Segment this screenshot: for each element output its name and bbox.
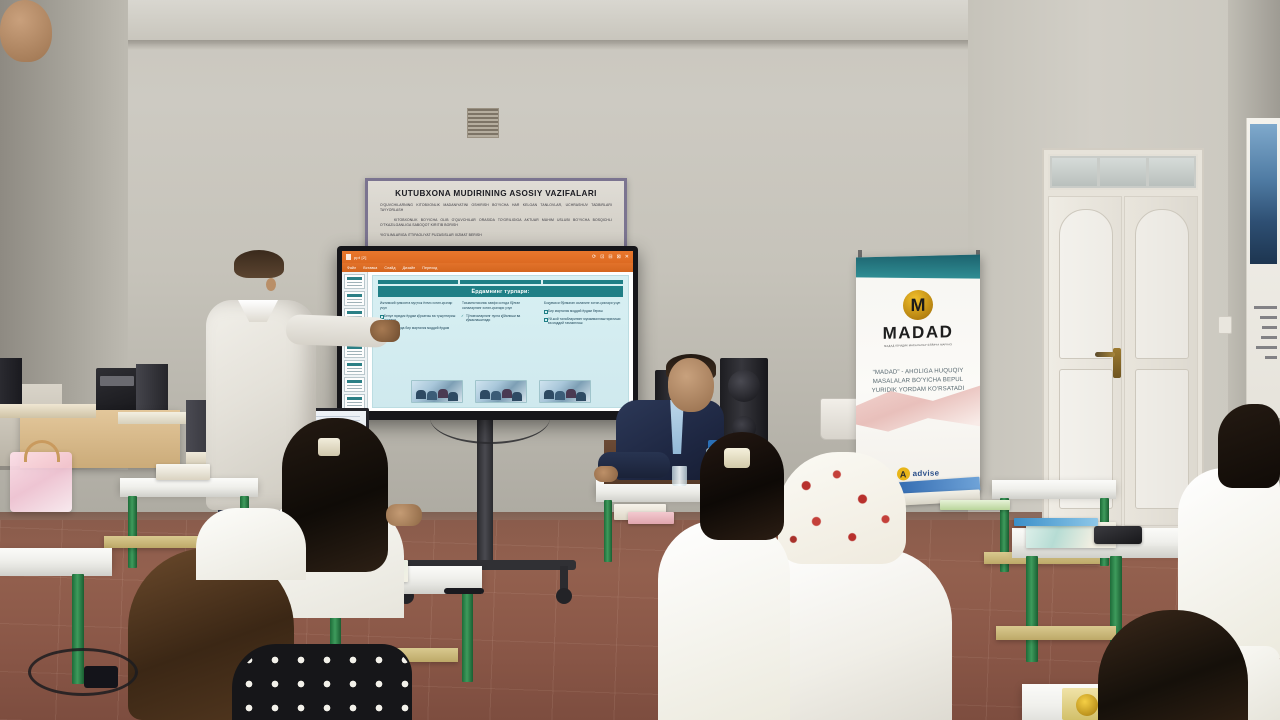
door-transom-window: [1048, 154, 1198, 190]
wall-poster-line-1: O'QUVCHILARNING KITOBXONLIK MADANIYATINI…: [380, 203, 612, 213]
stereo-speaker: [136, 364, 168, 416]
slide-text: Боқувчиси бўлмаган оиланинг хотин-қизлар…: [544, 301, 621, 306]
slide-thumbnail[interactable]: [344, 360, 365, 375]
desk-leg: [1026, 556, 1038, 662]
menu-item-transition[interactable]: Переход: [422, 266, 437, 270]
slide-text: Бир марталик моддий ёрдам бериш: [544, 309, 621, 314]
wall-poster-line-2: KITOBXONLIK BO'YICHA OLIB O'QUVCHILAR OR…: [380, 218, 612, 228]
slide-thumbnail[interactable]: [344, 394, 365, 409]
madad-logo-small-icon: [1076, 694, 1098, 716]
power-adapter: [84, 666, 118, 688]
window-controls[interactable]: ⟳ ⊡ ⊟ ⊠ ✕: [592, 254, 629, 260]
menu-item-design[interactable]: Дизайн: [403, 266, 416, 270]
headscarf-floral-pattern: [778, 452, 906, 564]
slide-photo-strip: [378, 378, 623, 403]
right-wall-poster-image: [1250, 124, 1277, 264]
smartphone[interactable]: [1094, 526, 1142, 544]
menu-item-slide[interactable]: Слайд: [384, 266, 395, 270]
madad-brand-name: MADAD: [856, 321, 980, 344]
slide-column-3: Боқувчиси бўлмаган оиланинг хотин-қизлар…: [544, 301, 621, 378]
restore-icon[interactable]: ⊡: [600, 254, 604, 260]
door-leaf-left[interactable]: [1048, 196, 1122, 526]
hair: [1218, 404, 1280, 488]
slide-column-2: Таъминотсизлик хавфи остида бўлган оилал…: [462, 301, 539, 378]
advise-logo-icon: A: [897, 467, 910, 480]
hair-accessory: [724, 448, 750, 468]
right-wall-poster: [1246, 118, 1280, 418]
slide-text: Ижтимоий ҳимоятга муҳтож ёлғиз хотин-қиз…: [380, 301, 457, 311]
wall-poster-title: KUTUBXONA MUDIRINING ASOSIY VAZIFALARI: [380, 189, 612, 198]
advise-wordmark: advise: [913, 468, 940, 478]
desk-mid-left-edge: [120, 490, 258, 497]
slide-columns: Ижтимоий ҳимоятга муҳтож ёлғиз хотин-қиз…: [378, 297, 623, 378]
right-wall-poster-text: [1250, 306, 1277, 359]
light-switch[interactable]: [1218, 316, 1232, 334]
slide-photo: [475, 380, 527, 403]
menu-item-file[interactable]: Файл: [347, 266, 356, 270]
stereo-display: [100, 376, 134, 386]
stereo-unit: [96, 368, 140, 414]
ear: [266, 278, 276, 291]
door-panel: [1059, 209, 1113, 359]
madad-message: "MADAD" - AHOLIGA HUQUQIY MASALALAR BO'Y…: [856, 365, 980, 395]
slide-photo: [539, 380, 591, 403]
vent-icon: [467, 108, 499, 138]
slide-photo: [411, 380, 463, 403]
drinking-glass: [672, 466, 687, 486]
front-table-leg: [604, 500, 612, 562]
hair-clip: [318, 438, 340, 456]
minimize-icon[interactable]: ⊟: [608, 254, 612, 260]
close-icon[interactable]: ✕: [625, 254, 629, 260]
hand: [594, 466, 618, 482]
app-title: ppt [2]: [354, 255, 367, 260]
slide-text: Уй-жой талабларининг мукаммаллаштирилиши…: [544, 317, 621, 327]
slide-text: Таъминотсизлик хавфи остида бўлган оилал…: [462, 301, 539, 311]
desk-leg: [462, 592, 473, 682]
tv-stand-wheel-right: [556, 588, 572, 604]
desk-front-left-top: [0, 548, 112, 568]
door-panel: [1135, 369, 1189, 509]
floor-cable: [28, 648, 138, 696]
pointing-hand: [370, 320, 400, 342]
desk-right-back-edge: [992, 492, 1116, 499]
refresh-icon[interactable]: ⟳: [592, 254, 596, 260]
booklet: [156, 464, 210, 480]
wall-poster-line-3: YIG'ILIMLARIGA ITTIFAOLIYAT PUZASISLAR X…: [380, 233, 612, 238]
head: [668, 358, 714, 412]
slide-thumbnail[interactable]: [344, 291, 365, 306]
polka-dot-pattern: [236, 648, 412, 720]
app-menubar[interactable]: Файл Вставка Слайд Дизайн Переход: [342, 263, 633, 272]
hair: [234, 250, 284, 278]
left-speaker: [0, 358, 22, 406]
door-panel: [1135, 209, 1189, 359]
papers-stack-center: [118, 412, 190, 424]
menu-item-insert[interactable]: Вставка: [363, 266, 377, 270]
desk-front-left-edge: [0, 566, 112, 576]
slide-decor-bars: [378, 280, 623, 284]
slide-text: Тўловчиларнинг пулга қўйилиши ва кўмакла…: [462, 314, 539, 324]
bench: [996, 626, 1116, 640]
madad-logo-icon: M: [903, 290, 933, 321]
current-slide: Ёрдамнинг турлари: Ижтимоий ҳимоятга муҳ…: [372, 275, 629, 408]
booklet: [628, 512, 674, 524]
app-titlebar: ppt [2] ⟳ ⊡ ⊟ ⊠ ✕: [342, 251, 633, 263]
door-lever-icon[interactable]: [1095, 352, 1115, 357]
book-stack: [940, 500, 1010, 510]
desk-leg: [128, 496, 137, 568]
presenter: [0, 0, 52, 62]
maximize-icon[interactable]: ⊠: [617, 254, 621, 260]
door-leaf-right[interactable]: [1124, 196, 1198, 526]
document-icon: [346, 254, 351, 260]
blouse: [196, 508, 306, 580]
papers-stack-left: [0, 404, 96, 418]
slide-title: Ёрдамнинг турлари:: [378, 286, 623, 297]
booklet-spine: [1014, 518, 1098, 526]
head: [0, 0, 52, 62]
slide-canvas[interactable]: Ёрдамнинг турлари: Ижтимоий ҳимоятга муҳ…: [368, 272, 633, 411]
blouse: [658, 520, 790, 720]
hand: [386, 504, 422, 526]
banner-header-band: [856, 254, 980, 278]
floor-cable: [444, 588, 484, 594]
classroom-scene: KUTUBXONA MUDIRINING ASOSIY VAZIFALARI O…: [0, 0, 1280, 720]
slide-thumbnail[interactable]: [344, 377, 365, 392]
slide-thumbnail[interactable]: [344, 274, 365, 289]
